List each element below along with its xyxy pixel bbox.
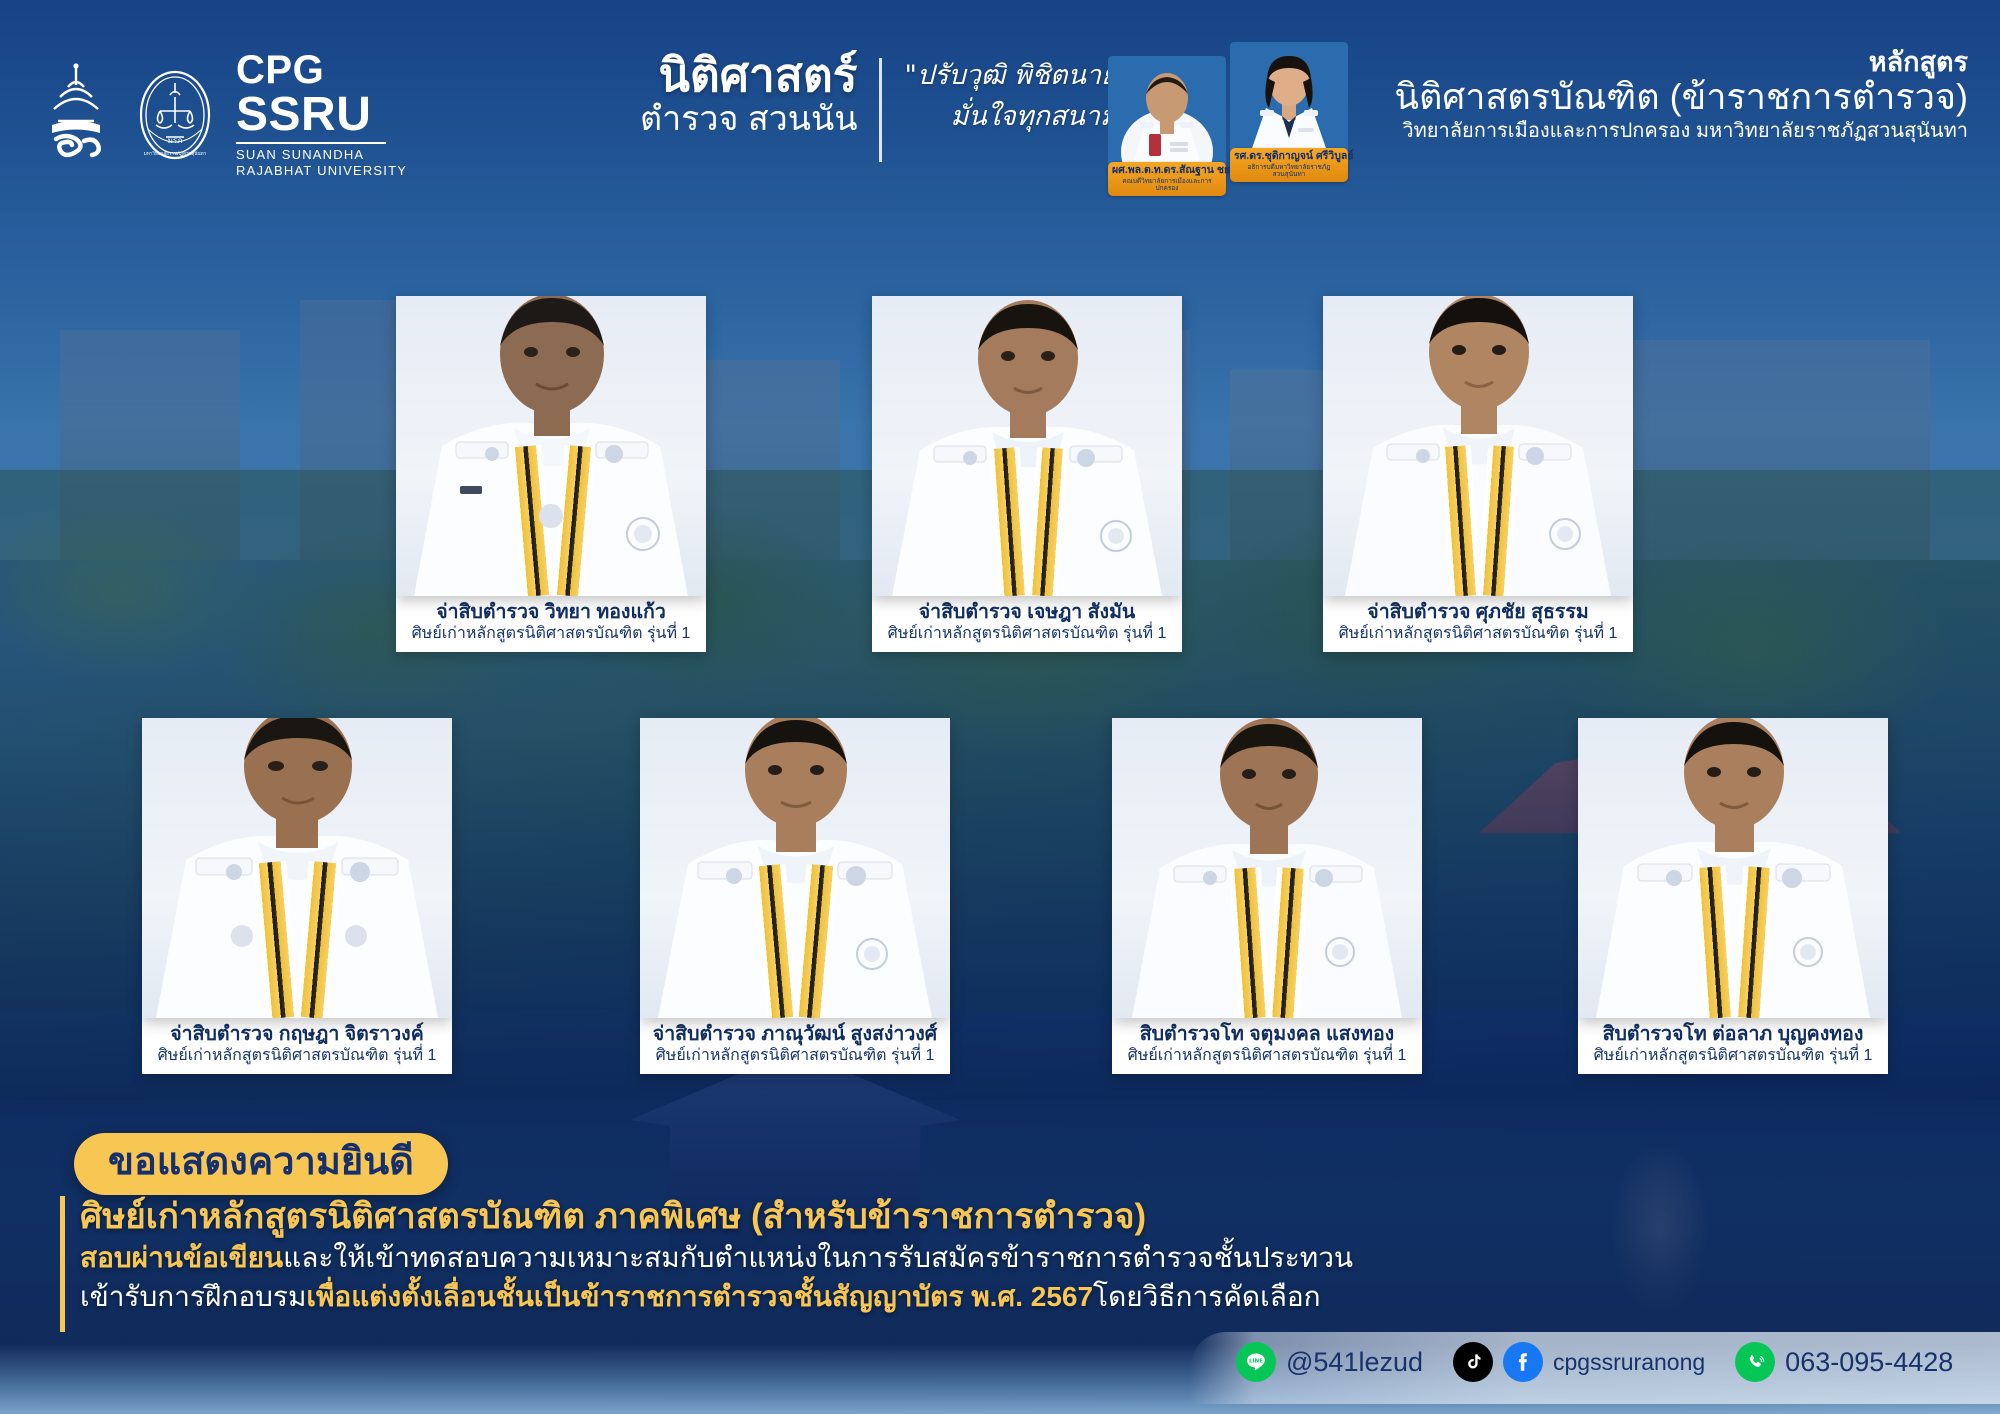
graduate-label-1: จ่าสิบตำรวจ วิทยา ทองแก้ว ศิษย์เก่าหลักส… xyxy=(396,596,706,652)
social-handle-text: cpgssruranong xyxy=(1553,1349,1705,1376)
banner-line-1: ศิษย์เก่าหลักสูตรนิติศาสตรบัณฑิต ภาคพิเศ… xyxy=(80,1196,1353,1238)
svg-text:มหาวิทยาลัยราชภัฏสวนสุนันทา: มหาวิทยาลัยราชภัฏสวนสุนันทา xyxy=(144,150,207,157)
graduate-photo-5 xyxy=(640,718,950,1018)
phone-contact[interactable]: 063-095-4428 xyxy=(1735,1342,1953,1382)
graduate-label-7: สิบตำรวจโท ต่อลาภ บุญคงทอง ศิษย์เก่าหลัก… xyxy=(1578,1018,1888,1074)
graduate-photo-3 xyxy=(1323,296,1633,596)
graduate-card-5[interactable]: จ่าสิบตำรวจ ภาณุวัฒน์ สูงสง่าวงศ์ ศิษย์เ… xyxy=(640,718,950,1074)
executive-nameplate-1: ผศ.พล.ต.ท.ดร.สัณฐาน ชยนนท์ คณบดีวิทยาลัย… xyxy=(1108,162,1226,196)
banner-line-2-rest: และให้เข้าทดสอบความเหมาะสมกับตำแหน่งในกา… xyxy=(283,1242,1353,1273)
graduate-subtitle-7: ศิษย์เก่าหลักสูตรนิติศาสตรบัณฑิต รุ่นที่… xyxy=(1582,1047,1884,1065)
banner-line-2: สอบผ่านข้อเขียนและให้เข้าทดสอบความเหมาะส… xyxy=(80,1240,1353,1277)
graduate-name-2: จ่าสิบตำรวจ เจษฎา สังมัน xyxy=(876,602,1178,624)
svg-text:LINE: LINE xyxy=(1249,1359,1263,1365)
curriculum-name: นิติศาสตรบัณฑิต (ข้าราชการตำรวจ) xyxy=(1394,77,1968,117)
graduate-name-7: สิบตำรวจโท ต่อลาภ บุญคงทอง xyxy=(1582,1024,1884,1046)
graduate-photo-2 xyxy=(872,296,1182,596)
program-title: นิติศาสตร์ xyxy=(640,52,857,99)
graduate-name-6: สิบตำรวจโท จตุมงคล แสงทอง xyxy=(1116,1024,1418,1046)
logo-cpg-text: CPG xyxy=(236,50,407,90)
graduate-card-6[interactable]: สิบตำรวจโท จตุมงคล แสงทอง ศิษย์เก่าหลักส… xyxy=(1112,718,1422,1074)
line-icon: LINE xyxy=(1236,1342,1276,1382)
graduate-photo-1 xyxy=(396,296,706,596)
graduate-card-7[interactable]: สิบตำรวจโท ต่อลาภ บุญคงทอง ศิษย์เก่าหลัก… xyxy=(1578,718,1888,1074)
graduate-label-3: จ่าสิบตำรวจ ศุภชัย สุธรรม ศิษย์เก่าหลักส… xyxy=(1323,596,1633,652)
curriculum-faculty: วิทยาลัยการเมืองและการปกครอง มหาวิทยาลัย… xyxy=(1394,119,1968,143)
executive-nameplate-2: รศ.ดร.ชุติกาญจน์ ศรีวิบูลย์ อธิการบดีมหา… xyxy=(1230,148,1348,182)
officer-illustration xyxy=(1578,718,1888,1018)
social-handle-group[interactable]: cpgssruranong xyxy=(1453,1342,1705,1382)
banner-line-3-c: โดยวิธีการคัดเลือก xyxy=(1093,1281,1321,1312)
graduate-photo-4 xyxy=(142,718,452,1018)
line-id-text: @541lezud xyxy=(1286,1347,1423,1378)
tiktok-icon xyxy=(1453,1342,1493,1382)
ssru-thai-emblem-icon xyxy=(34,63,118,167)
officer-illustration xyxy=(142,718,452,1018)
officer-illustration xyxy=(1323,296,1633,596)
officer-illustration xyxy=(396,296,706,596)
graduate-card-2[interactable]: จ่าสิบตำรวจ เจษฎา สังมัน ศิษย์เก่าหลักสู… xyxy=(872,296,1182,652)
graduate-subtitle-3: ศิษย์เก่าหลักสูตรนิติศาสตรบัณฑิต รุ่นที่… xyxy=(1327,625,1629,643)
facebook-icon xyxy=(1503,1342,1543,1382)
logo-subtitle-line1: SUAN SUNANDHA xyxy=(236,147,407,163)
banner-line-2-highlight: สอบผ่านข้อเขียน xyxy=(80,1242,283,1273)
executive-card-1: ผศ.พล.ต.ท.ดร.สัณฐาน ชยนนท์ คณบดีวิทยาลัย… xyxy=(1108,56,1226,196)
officer-illustration xyxy=(1112,718,1422,1018)
graduate-label-2: จ่าสิบตำรวจ เจษฎา สังมัน ศิษย์เก่าหลักสู… xyxy=(872,596,1182,652)
graduate-photo-6 xyxy=(1112,718,1422,1018)
graduate-name-4: จ่าสิบตำรวจ กฤษฎา จิตราวงค์ xyxy=(146,1024,448,1046)
header: มรภ มหาวิทยาลัยราชภัฏสวนสุนันทา CPG SSRU… xyxy=(0,0,2000,200)
banner-accent-bar xyxy=(60,1196,65,1332)
graduate-card-3[interactable]: จ่าสิบตำรวจ ศุภชัย สุธรรม ศิษย์เก่าหลักส… xyxy=(1323,296,1633,652)
graduate-label-4: จ่าสิบตำรวจ กฤษฎา จิตราวงค์ ศิษย์เก่าหลั… xyxy=(142,1018,452,1074)
curriculum-label: หลักสูตร xyxy=(1394,48,1968,78)
logo-divider xyxy=(236,142,386,144)
logo-ssru-text: SSRU xyxy=(236,91,407,139)
banner-line-3-a: เข้ารับการฝึกอบรม xyxy=(80,1281,306,1312)
graduate-name-5: จ่าสิบตำรวจ ภาณุวัฒน์ สูงสง่าวงศ์ xyxy=(644,1024,946,1046)
banner-line-3-highlight: เพื่อแต่งตั้งเลื่อนชั้นเป็นข้าราชการตำรว… xyxy=(306,1281,1093,1312)
executive-photo-1 xyxy=(1108,56,1226,168)
banner-text-block: ศิษย์เก่าหลักสูตรนิติศาสตรบัณฑิต ภาคพิเศ… xyxy=(80,1196,1353,1316)
svg-text:มรภ: มรภ xyxy=(168,136,183,145)
phone-icon xyxy=(1735,1342,1775,1382)
executive-role-1: คณบดีวิทยาลัยการเมืองและการปกครอง xyxy=(1112,178,1222,193)
graduate-label-6: สิบตำรวจโท จตุมงคล แสงทอง ศิษย์เก่าหลักส… xyxy=(1112,1018,1422,1074)
brand-logo[interactable]: มรภ มหาวิทยาลัยราชภัฏสวนสุนันทา CPG SSRU… xyxy=(34,50,407,180)
graduate-label-5: จ่าสิบตำรวจ ภาณุวัฒน์ สูงสง่าวงศ์ ศิษย์เ… xyxy=(640,1018,950,1074)
graduate-card-4[interactable]: จ่าสิบตำรวจ กฤษฎา จิตราวงค์ ศิษย์เก่าหลั… xyxy=(142,718,452,1074)
graduate-name-1: จ่าสิบตำรวจ วิทยา ทองแก้ว xyxy=(400,602,702,624)
university-seal-icon: มรภ มหาวิทยาลัยราชภัฏสวนสุนันทา xyxy=(132,67,218,163)
banner-line-3: เข้ารับการฝึกอบรมเพื่อแต่งตั้งเลื่อนชั้น… xyxy=(80,1279,1353,1316)
line-contact[interactable]: LINE @541lezud xyxy=(1236,1342,1423,1382)
executive-name-2: รศ.ดร.ชุติกาญจน์ ศรีวิบูลย์ xyxy=(1234,151,1344,163)
executive-card-2: รศ.ดร.ชุติกาญจน์ ศรีวิบูลย์ อธิการบดีมหา… xyxy=(1230,42,1348,182)
title-divider xyxy=(879,58,882,162)
graduate-subtitle-1: ศิษย์เก่าหลักสูตรนิติศาสตรบัณฑิต รุ่นที่… xyxy=(400,625,702,643)
program-subtitle: ตำรวจ สวนนัน xyxy=(640,101,857,138)
graduate-subtitle-4: ศิษย์เก่าหลักสูตรนิติศาสตรบัณฑิต รุ่นที่… xyxy=(146,1047,448,1065)
executive-name-1: ผศ.พล.ต.ท.ดร.สัณฐาน ชยนนท์ xyxy=(1112,165,1222,177)
executive-photo-2 xyxy=(1230,42,1348,154)
graduate-subtitle-5: ศิษย์เก่าหลักสูตรนิติศาสตรบัณฑิต รุ่นที่… xyxy=(644,1047,946,1065)
congratulations-text: ขอแสดงความยินดี xyxy=(108,1143,414,1181)
program-header-right: หลักสูตร นิติศาสตรบัณฑิต (ข้าราชการตำรวจ… xyxy=(1394,48,1968,143)
executive-role-2: อธิการบดีมหาวิทยาลัยราชภัฏสวนสุนันทา xyxy=(1234,164,1344,179)
graduate-subtitle-6: ศิษย์เก่าหลักสูตรนิติศาสตรบัณฑิต รุ่นที่… xyxy=(1116,1047,1418,1065)
congratulations-badge: ขอแสดงความยินดี xyxy=(74,1133,448,1195)
graduate-photo-7 xyxy=(1578,718,1888,1018)
poster-root: มรภ มหาวิทยาลัยราชภัฏสวนสุนันทา CPG SSRU… xyxy=(0,0,2000,1414)
officer-illustration xyxy=(640,718,950,1018)
executive-portraits: ผศ.พล.ต.ท.ดร.สัณฐาน ชยนนท์ คณบดีวิทยาลัย… xyxy=(1108,38,1358,188)
center-title-block: นิติศาสตร์ ตำรวจ สวนนัน "ปรับวุฒิ พิชิตน… xyxy=(640,52,1180,162)
officer-illustration xyxy=(872,296,1182,596)
graduate-card-1[interactable]: จ่าสิบตำรวจ วิทยา ทองแก้ว ศิษย์เก่าหลักส… xyxy=(396,296,706,652)
graduate-name-3: จ่าสิบตำรวจ ศุภชัย สุธรรม xyxy=(1327,602,1629,624)
phone-number-text: 063-095-4428 xyxy=(1785,1347,1953,1378)
graduate-subtitle-2: ศิษย์เก่าหลักสูตรนิติศาสตรบัณฑิต รุ่นที่… xyxy=(876,625,1178,643)
logo-subtitle-line2: RAJABHAT UNIVERSITY xyxy=(236,163,407,179)
social-footer: LINE @541lezud cpgssruranong xyxy=(1222,1336,1967,1388)
